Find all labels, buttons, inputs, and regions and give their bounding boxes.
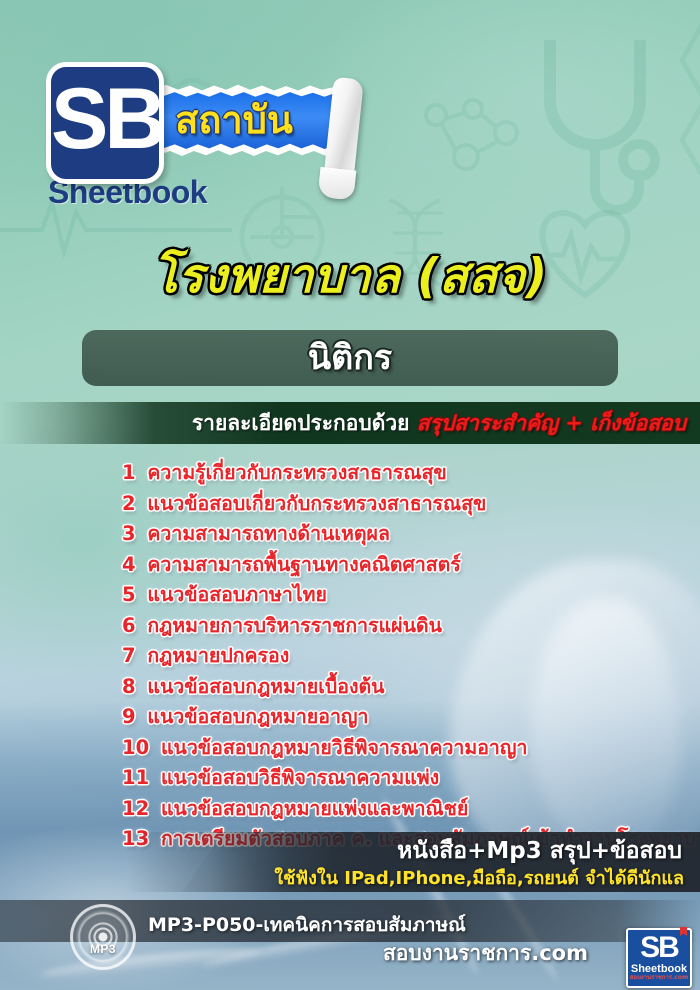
format-line: หนังสือ+Mp3 สรุป+ข้อสอบ xyxy=(397,836,682,866)
list-item-label: กฎหมายปกครอง xyxy=(147,644,289,667)
list-item-label: แนวข้อสอบวิธีพิจารณาความแพ่ง xyxy=(161,766,439,789)
website-label[interactable]: สอบงานราชการ.com xyxy=(383,938,588,968)
mp3-icon-label: MP3 xyxy=(73,942,133,956)
list-item-number: 5 xyxy=(122,583,136,606)
list-item-label: แนวข้อสอบกฎหมายเบื้องต้น xyxy=(147,675,384,698)
list-item: 2 แนวข้อสอบเกี่ยวกับกระทรวงสาธารณสุข xyxy=(122,489,682,520)
list-item-label: ความสามารถพื้นฐานทางคณิตศาสตร์ xyxy=(147,553,460,576)
page-title: โรงพยาบาล (สสจ) xyxy=(0,238,700,313)
torn-paper-banner: สถาบัน xyxy=(138,84,338,156)
list-item-number: 7 xyxy=(122,644,136,667)
list-item: 4 ความสามารถพื้นฐานทางคณิตศาสตร์ xyxy=(122,550,682,581)
details-banner-content: รายละเอียดประกอบด้วย สรุปสาระสำคัญ + เก็… xyxy=(192,402,686,444)
list-item-number: 1 xyxy=(122,461,136,484)
logo-sb-text: SB xyxy=(51,67,159,171)
list-item-number: 2 xyxy=(122,492,136,515)
list-item-label: แนวข้อสอบเกี่ยวกับกระทรวงสาธารณสุข xyxy=(147,492,486,515)
logo-sb-mark: SB xyxy=(46,62,164,184)
list-item-number: 6 xyxy=(122,614,136,637)
details-banner-prefix: รายละเอียดประกอบด้วย xyxy=(192,411,410,435)
badge-sb-text: SB xyxy=(628,932,690,964)
torn-banner-label: สถาบัน xyxy=(138,92,330,148)
contents-list: 1 ความรู้เกี่ยวกับกระทรวงสาธารณสุข 2 แนว… xyxy=(122,458,682,855)
list-item-label: ความสามารถทางด้านเหตุผล xyxy=(147,522,390,545)
badge-site-text: สอบงานราชการ.com xyxy=(628,974,690,982)
list-item-number: 11 xyxy=(122,766,149,789)
list-item-number: 8 xyxy=(122,675,136,698)
mp3-code-label: MP3-P050-เทคนิคการสอบสัมภาษณ์ xyxy=(148,910,466,940)
list-item: 11 แนวข้อสอบวิธีพิจารณาความแพ่ง xyxy=(122,763,682,794)
list-item: 9 แนวข้อสอบกฎหมายอาญา xyxy=(122,702,682,733)
list-item-number: 12 xyxy=(122,797,149,820)
list-item: 12 แนวข้อสอบกฎหมายแพ่งและพาณิชย์ xyxy=(122,794,682,825)
list-item: 10 แนวข้อสอบกฎหมายวิธีพิจารณาความอาญา xyxy=(122,733,682,764)
footer-brand-badge[interactable]: SB Sheetbook สอบงานราชการ.com xyxy=(626,928,692,988)
list-item: 7 กฎหมายปกครอง xyxy=(122,641,682,672)
position-title: นิติกร xyxy=(82,330,618,386)
list-item: 3 ความสามารถทางด้านเหตุผล xyxy=(122,519,682,550)
list-item: 5 แนวข้อสอบภาษาไทย xyxy=(122,580,682,611)
list-item: 8 แนวข้อสอบกฎหมายเบื้องต้น xyxy=(122,672,682,703)
list-item-label: แนวข้อสอบกฎหมายอาญา xyxy=(147,705,368,728)
list-item-number: 9 xyxy=(122,705,136,728)
brand-logo[interactable]: สถาบัน SB Sheetbook xyxy=(46,56,386,216)
list-item: 1 ความรู้เกี่ยวกับกระทรวงสาธารณสุข xyxy=(122,458,682,489)
position-title-bar: นิติกร xyxy=(82,330,618,386)
mp3-disc-icon: MP3 xyxy=(70,904,136,970)
details-banner: รายละเอียดประกอบด้วย สรุปสาระสำคัญ + เก็… xyxy=(0,402,700,444)
list-item-number: 3 xyxy=(122,522,136,545)
list-item-label: แนวข้อสอบกฎหมายวิธีพิจารณาความอาญา xyxy=(161,736,527,759)
usage-line: ใช้ฟังใน IPad,IPhone,มือถือ,รถยนต์ จำได้… xyxy=(274,866,684,892)
list-item-label: ความรู้เกี่ยวกับกระทรวงสาธารณสุข xyxy=(147,461,446,484)
list-item-number: 10 xyxy=(122,736,149,759)
details-banner-highlight: สรุปสาระสำคัญ + เก็งข้อสอบ xyxy=(417,411,686,435)
poster-root: สถาบัน SB Sheetbook โรงพยาบาล (สสจ) นิติ… xyxy=(0,0,700,990)
list-item: 6 กฎหมายการบริหารราชการแผ่นดิน xyxy=(122,611,682,642)
list-item-label: แนวข้อสอบกฎหมายแพ่งและพาณิชย์ xyxy=(161,797,468,820)
list-item-label: แนวข้อสอบภาษาไทย xyxy=(147,583,327,606)
list-item-label: กฎหมายการบริหารราชการแผ่นดิน xyxy=(147,614,442,637)
list-item-number: 4 xyxy=(122,553,136,576)
